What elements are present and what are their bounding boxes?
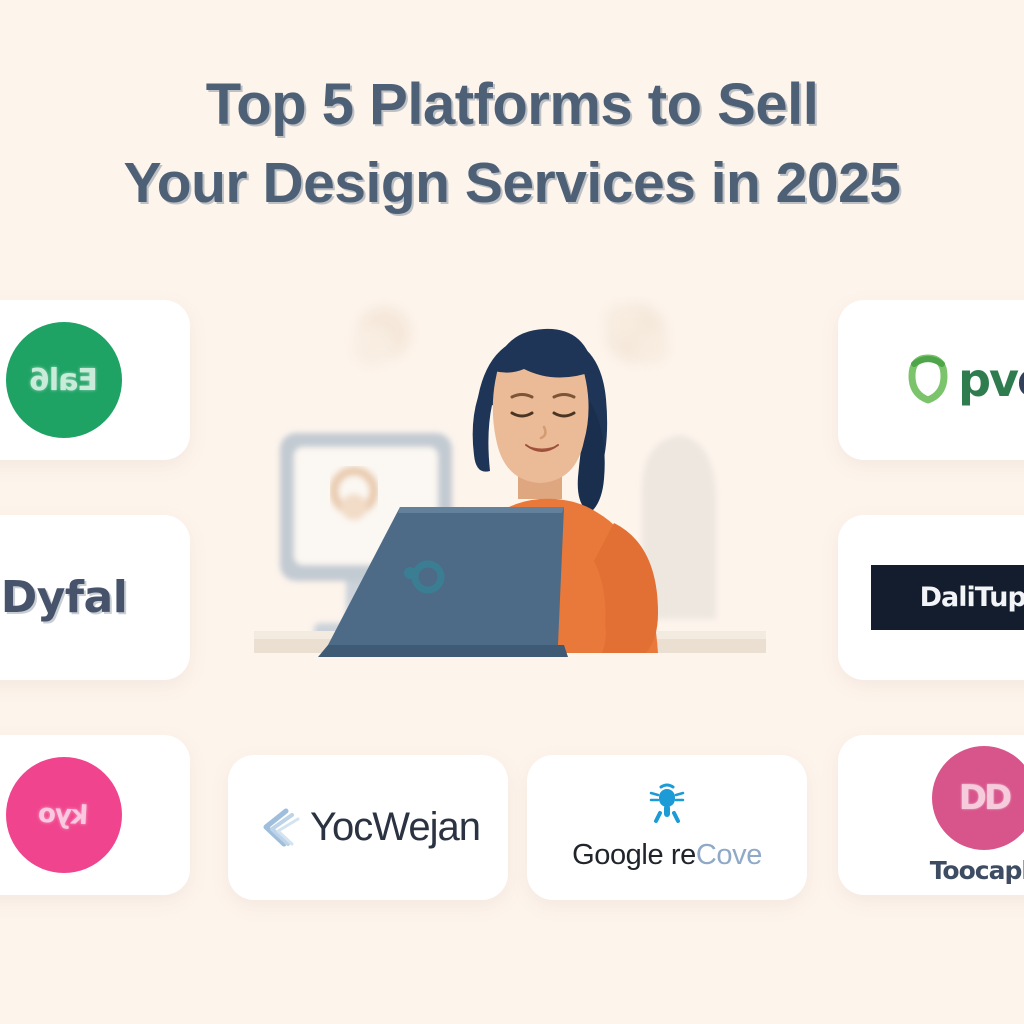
rose-circle-badge: DD [932, 746, 1024, 850]
platform-card-pink[interactable]: kyo [0, 735, 190, 895]
blue-robot-icon [647, 783, 687, 825]
upwork-logo-text-secondary: oc [1017, 353, 1024, 407]
upwork-logo-text: pvoc [958, 353, 1024, 407]
pink-logo-text: kyo [39, 799, 90, 832]
platform-card-google-recove[interactable]: Google reCove [527, 755, 807, 900]
google-recove-text-accent: Cove [696, 839, 762, 871]
upwork-logo: pvoc [902, 353, 1024, 407]
title-line-1: Top 5 Platforms to Sell [0, 66, 1024, 144]
platform-card-toocapb[interactable]: DD Toocapb [838, 735, 1024, 895]
upwork-logo-text-primary: pv [958, 353, 1017, 407]
platform-card-dyfal[interactable]: Dyfal [0, 515, 190, 680]
title-line-2: Your Design Services in 2025 [0, 144, 1024, 222]
platform-card-dark-badge[interactable]: DaliTupJo [838, 515, 1024, 680]
infographic-canvas: Top 5 Platforms to Sell Your Design Serv… [0, 0, 1024, 1024]
pink-circle-badge: kyo [6, 757, 122, 873]
platform-card-fiverr[interactable]: Eal6 [0, 300, 190, 460]
toocapb-logo-glyph: DD [959, 778, 1009, 818]
dark-badge: DaliTupJo [871, 565, 1024, 630]
dyfal-logo-text: Dyfal [1, 572, 128, 623]
fiverr-logo-text: Eal6 [30, 363, 98, 398]
google-recove-logo: Google reCove [572, 783, 762, 872]
illustration-woman-working-on-laptop [250, 285, 770, 685]
green-circle-badge: Eal6 [6, 322, 122, 438]
upwork-leaf-mark-icon [902, 354, 954, 406]
google-recove-text-primary: Google re [572, 839, 696, 871]
google-recove-logo-text: Google reCove [572, 839, 762, 872]
toocapb-caption: Toocapb [930, 856, 1024, 885]
yocwejan-logo-text: YocWejan [310, 805, 480, 850]
platform-card-upwork[interactable]: pvoc [838, 300, 1024, 460]
platform-card-yocwejan[interactable]: YocWejan [228, 755, 508, 900]
toocapb-logo: DD Toocapb [930, 746, 1024, 885]
dark-badge-logo-text: DaliTupJo [920, 582, 1024, 613]
blue-chevron-mark-icon [256, 808, 300, 848]
page-title: Top 5 Platforms to Sell Your Design Serv… [0, 66, 1024, 222]
yocwejan-logo: YocWejan [256, 805, 480, 850]
